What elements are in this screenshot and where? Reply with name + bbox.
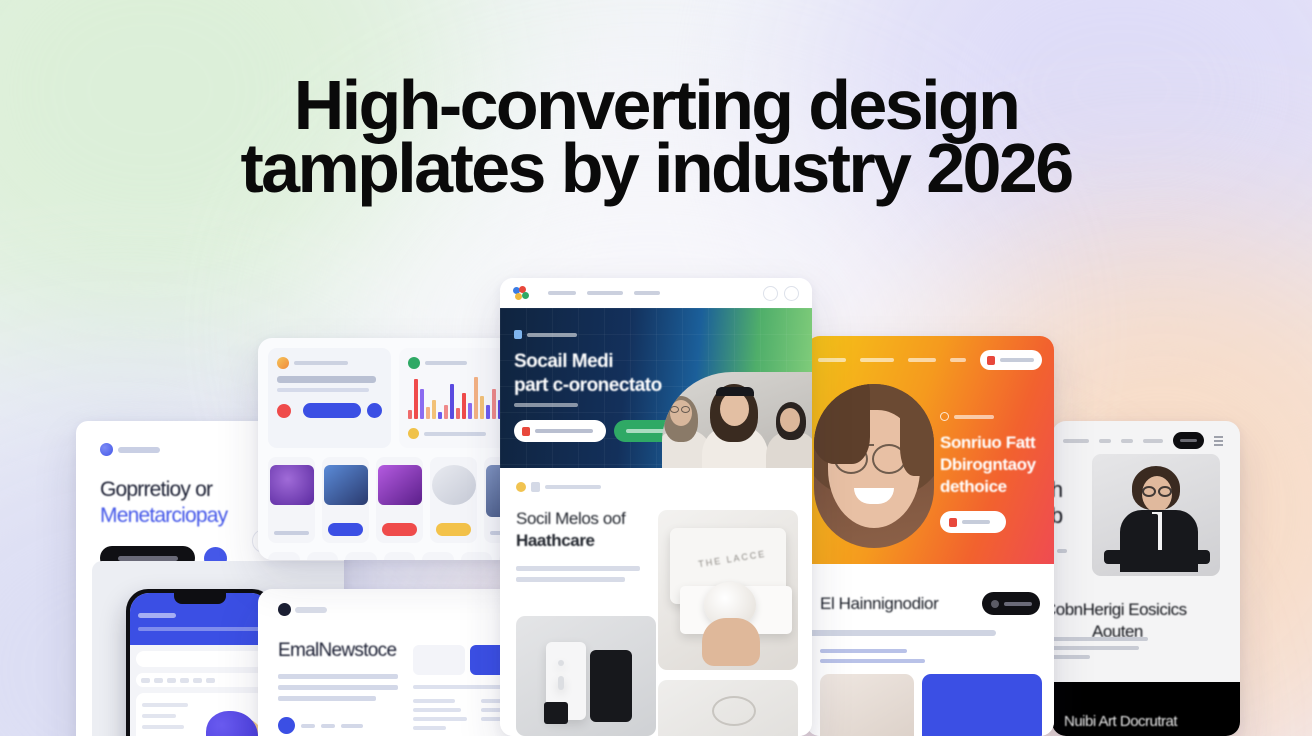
- chart-bar: [450, 384, 454, 419]
- nav-item: [860, 358, 894, 362]
- brand-logo-icon: [278, 603, 291, 616]
- category-item[interactable]: [422, 552, 454, 560]
- product-tile[interactable]: [322, 457, 369, 543]
- brand-logo-icon: [100, 443, 113, 456]
- sun-icon: [277, 357, 289, 369]
- dental-hero-text: Sonriuo Fatt Dbirogntaoy dethoice: [940, 412, 1044, 533]
- dental-hero-title: Sonriuo Fatt Dbirogntaoy dethoice: [940, 432, 1044, 498]
- social-accessory-photo: [658, 680, 798, 736]
- nav-item: [1143, 439, 1163, 443]
- brand-wordmark: [118, 447, 160, 453]
- chart-bar: [426, 407, 430, 419]
- template-card-dental[interactable]: Sonriuo Fatt Dbirogntaoy dethoice El Hai…: [806, 336, 1054, 736]
- chart-bar: [438, 412, 442, 419]
- template-card-newsletter[interactable]: EmalNewstoce: [258, 589, 541, 736]
- chart-bar: [468, 403, 472, 419]
- category-item[interactable]: [268, 552, 300, 560]
- chart-bar: [486, 405, 490, 419]
- headline-line-2: tamplates by industry 2026: [0, 137, 1312, 199]
- glasses-icon: [712, 696, 756, 726]
- template-card-social-media[interactable]: Socail Medi part c-oronectato: [500, 278, 812, 736]
- dental-title-line-3: dethoice: [940, 477, 1007, 496]
- clock-icon: [991, 600, 999, 608]
- nav-item: [818, 358, 846, 362]
- category-item[interactable]: [345, 552, 377, 560]
- chart-bar: [480, 396, 484, 419]
- phone-mockup: [126, 589, 274, 736]
- consulting-dark-title: Nuibi Art Docrutrat: [1064, 713, 1177, 730]
- social-navbar[interactable]: [500, 278, 812, 308]
- social-product-photo: THE LACCE: [658, 510, 798, 670]
- social-nav-items[interactable]: [548, 291, 660, 295]
- product-button[interactable]: [436, 523, 471, 536]
- newsletter-paragraph: [278, 674, 398, 701]
- chart-bar: [462, 393, 466, 419]
- product-tile[interactable]: [430, 457, 477, 543]
- spark-icon: [514, 330, 522, 339]
- dental-accent-block: [922, 674, 1042, 736]
- hand-shape: [702, 618, 760, 666]
- hero-primary-button[interactable]: [514, 420, 606, 442]
- newsletter-brand: [258, 589, 541, 616]
- chart-bar: [456, 408, 460, 419]
- consulting-section-line-1: CobnHerigi Eosicics: [1052, 600, 1187, 619]
- category-item[interactable]: [461, 552, 493, 560]
- consulting-paragraph: [1052, 637, 1148, 659]
- dashboard-promo-button[interactable]: [303, 403, 361, 418]
- product-button[interactable]: [328, 523, 363, 536]
- menu-icon[interactable]: [1214, 436, 1223, 446]
- page-title: High-converting design tamplates by indu…: [0, 74, 1312, 199]
- search-icon: [763, 286, 778, 301]
- social-device-photo: [516, 616, 656, 736]
- chart-bar: [432, 400, 436, 419]
- social-body: Socil Melos oof Haathcare THE LACCE: [500, 468, 812, 736]
- leaf-icon: [408, 357, 420, 369]
- account-icon: [784, 286, 799, 301]
- preview-card-light: [413, 645, 465, 675]
- phone-product-panel: [136, 693, 264, 736]
- phone-screen: [130, 593, 270, 736]
- brand-wordmark: [295, 607, 327, 613]
- phone-spec-lines: [142, 703, 188, 736]
- social-nav-buttons[interactable]: [763, 286, 799, 301]
- nav-item: [950, 358, 966, 362]
- phone-notch: [174, 593, 226, 604]
- hero-title-line-1: Socail Medi: [514, 351, 613, 372]
- social-section-badge: [500, 482, 812, 492]
- alert-icon: [277, 404, 291, 418]
- dental-eyebrow: [940, 412, 1044, 421]
- section-title-line-2: Haathcare: [516, 531, 595, 550]
- tooth-icon: [940, 412, 949, 421]
- dashboard-promo-panel: [268, 348, 391, 448]
- screenshot-stage: High-converting design tamplates by indu…: [0, 0, 1312, 736]
- dental-image-row: [820, 674, 1042, 736]
- dashboard-product-tiles[interactable]: [258, 448, 541, 543]
- consulting-nav-button[interactable]: [1173, 432, 1204, 449]
- template-card-dashboard[interactable]: [258, 338, 541, 560]
- nav-item: [1063, 439, 1089, 443]
- star-icon: [408, 428, 419, 439]
- consulting-portrait-photo: [1092, 454, 1220, 576]
- product-label: [274, 531, 309, 535]
- category-item[interactable]: [307, 552, 339, 560]
- social-logo-icon: [513, 286, 530, 301]
- category-item[interactable]: [384, 552, 416, 560]
- bell-icon: [516, 482, 526, 492]
- phone-search-input[interactable]: [136, 651, 264, 667]
- dashboard-promo-footer: [277, 403, 382, 418]
- product-button[interactable]: [382, 523, 417, 536]
- hero-cta-row[interactable]: [514, 420, 682, 442]
- dental-link-list[interactable]: [806, 649, 946, 663]
- calendar-icon: [949, 518, 957, 527]
- dental-section-button[interactable]: [982, 592, 1040, 615]
- dental-body: El Hainnignodior: [806, 564, 1054, 736]
- dental-title-line-2: Dbirogntaoy: [940, 455, 1036, 474]
- hero-subtitle: [514, 403, 578, 407]
- hero-eyebrow: [514, 330, 577, 339]
- nav-item: [1099, 439, 1111, 443]
- doc-icon: [531, 482, 540, 492]
- dental-navbar[interactable]: [806, 336, 1054, 370]
- hero-title-line-2: part c-oronectato: [514, 375, 662, 396]
- chart-bar: [414, 379, 418, 419]
- avatar: [278, 717, 295, 734]
- calendar-icon: [987, 356, 995, 365]
- dashboard-top-row: [258, 338, 541, 448]
- dashboard-promo-subtitle: [277, 388, 369, 392]
- product-thumbnail: [324, 465, 368, 505]
- dashboard-promo-title: [277, 376, 376, 383]
- dental-section-header: El Hainnignodior: [806, 592, 1054, 615]
- social-hero-title: Socail Medi part c-oronectato: [514, 350, 662, 398]
- phone-app-logo: [138, 613, 176, 618]
- dental-section-title: El Hainnignodior: [820, 594, 938, 614]
- product-tile[interactable]: [268, 457, 315, 543]
- phone-app-subtitle: [138, 627, 262, 631]
- dental-title-line-1: Sonriuo Fatt: [940, 433, 1035, 452]
- chart-bar: [408, 410, 412, 419]
- template-card-consulting[interactable]: doh ndb CobnHerigi Eosicics Aouten Nuibi…: [1052, 421, 1240, 736]
- consulting-dark-band: Nuibi Art Docrutrat: [1052, 682, 1240, 736]
- nav-item: [1121, 439, 1133, 443]
- chart-bar: [492, 389, 496, 419]
- nav-item: [908, 358, 936, 362]
- dental-hero: Sonriuo Fatt Dbirogntaoy dethoice: [806, 336, 1054, 564]
- product-thumbnail: [378, 465, 422, 505]
- play-icon: [522, 427, 530, 436]
- dental-hero-cta[interactable]: [940, 511, 1006, 533]
- phone-product-image: [206, 711, 258, 736]
- dental-photo-hands: [820, 674, 914, 736]
- section-title-line-1: Socil Melos oof: [516, 509, 625, 528]
- consulting-meta-row: [1052, 549, 1067, 553]
- chart-bar: [420, 389, 424, 419]
- social-paragraph: [500, 566, 640, 582]
- dental-section-subtitle: [806, 630, 996, 636]
- dental-nav-button[interactable]: [980, 350, 1042, 370]
- dashboard-category-row[interactable]: [258, 543, 541, 560]
- product-tile[interactable]: [376, 457, 423, 543]
- product-thumbnail: [432, 465, 476, 505]
- dental-portrait-photo: [814, 384, 934, 548]
- social-hero: Socail Medi part c-oronectato: [500, 308, 812, 468]
- chart-bar: [474, 377, 478, 419]
- dashboard-promo-next-icon[interactable]: [367, 403, 382, 418]
- product-thumbnail: [270, 465, 314, 505]
- dashboard-promo-badge: [277, 357, 382, 369]
- consulting-navbar[interactable]: [1052, 421, 1240, 449]
- phone-app-header: [130, 593, 270, 645]
- chart-bar: [444, 405, 448, 419]
- phone-category-tabs[interactable]: [136, 673, 264, 687]
